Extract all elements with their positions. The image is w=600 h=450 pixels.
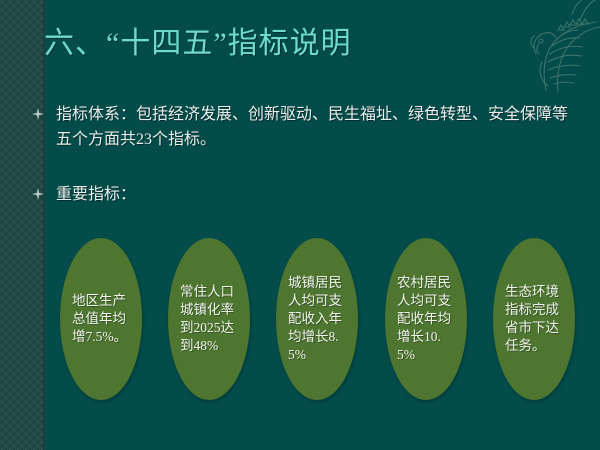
indicator-oval-text: 生态环境指标完成省市下达任务。: [505, 283, 563, 355]
indicator-oval-text: 城镇居民人均可支配收入年均增长8.5%: [288, 274, 346, 364]
indicator-oval-urbanization-rate[interactable]: 常住人口城镇化率到2025达到48%: [168, 238, 250, 400]
indicator-oval-text: 农村居民人均可支配收年均增长10.5%: [397, 274, 455, 364]
indicator-oval-gdp-growth[interactable]: 地区生产总值年均增7.5%。: [60, 238, 142, 400]
indicator-oval-urban-income-growth[interactable]: 城镇居民人均可支配收入年均增长8.5%: [276, 238, 358, 400]
bullet-text: 重要指标：: [56, 182, 432, 207]
bullet-item: 指标体系：包括经济发展、创新驱动、民生福址、绿色转型、安全保障等五个方面共23个…: [32, 102, 572, 152]
bullet-item: 重要指标：: [32, 182, 432, 207]
four-point-star-bullet-icon: [32, 188, 46, 202]
page-title: 六、“十四五”指标说明: [44, 24, 514, 64]
bullet-text: 指标体系：包括经济发展、创新驱动、民生福址、绿色转型、安全保障等五个方面共23个…: [56, 102, 572, 152]
presentation-slide: 六、“十四五”指标说明 指标体系：包括经济发展、创新驱动、民生福址、绿色转型、安…: [0, 0, 600, 450]
left-texture-band: [0, 0, 45, 450]
four-point-star-bullet-icon: [32, 108, 46, 122]
phoenix-ornament-icon: [512, 0, 600, 96]
indicator-oval-eco-environment-targets[interactable]: 生态环境指标完成省市下达任务。: [493, 238, 575, 400]
indicator-oval-text: 地区生产总值年均增7.5%。: [72, 292, 130, 346]
indicator-oval-text: 常住人口城镇化率到2025达到48%: [180, 283, 238, 355]
left-band-edge: [43, 0, 45, 450]
indicator-oval-row: 地区生产总值年均增7.5%。 常住人口城镇化率到2025达到48% 城镇居民人均…: [60, 238, 575, 408]
indicator-oval-rural-income-growth[interactable]: 农村居民人均可支配收年均增长10.5%: [385, 238, 467, 400]
